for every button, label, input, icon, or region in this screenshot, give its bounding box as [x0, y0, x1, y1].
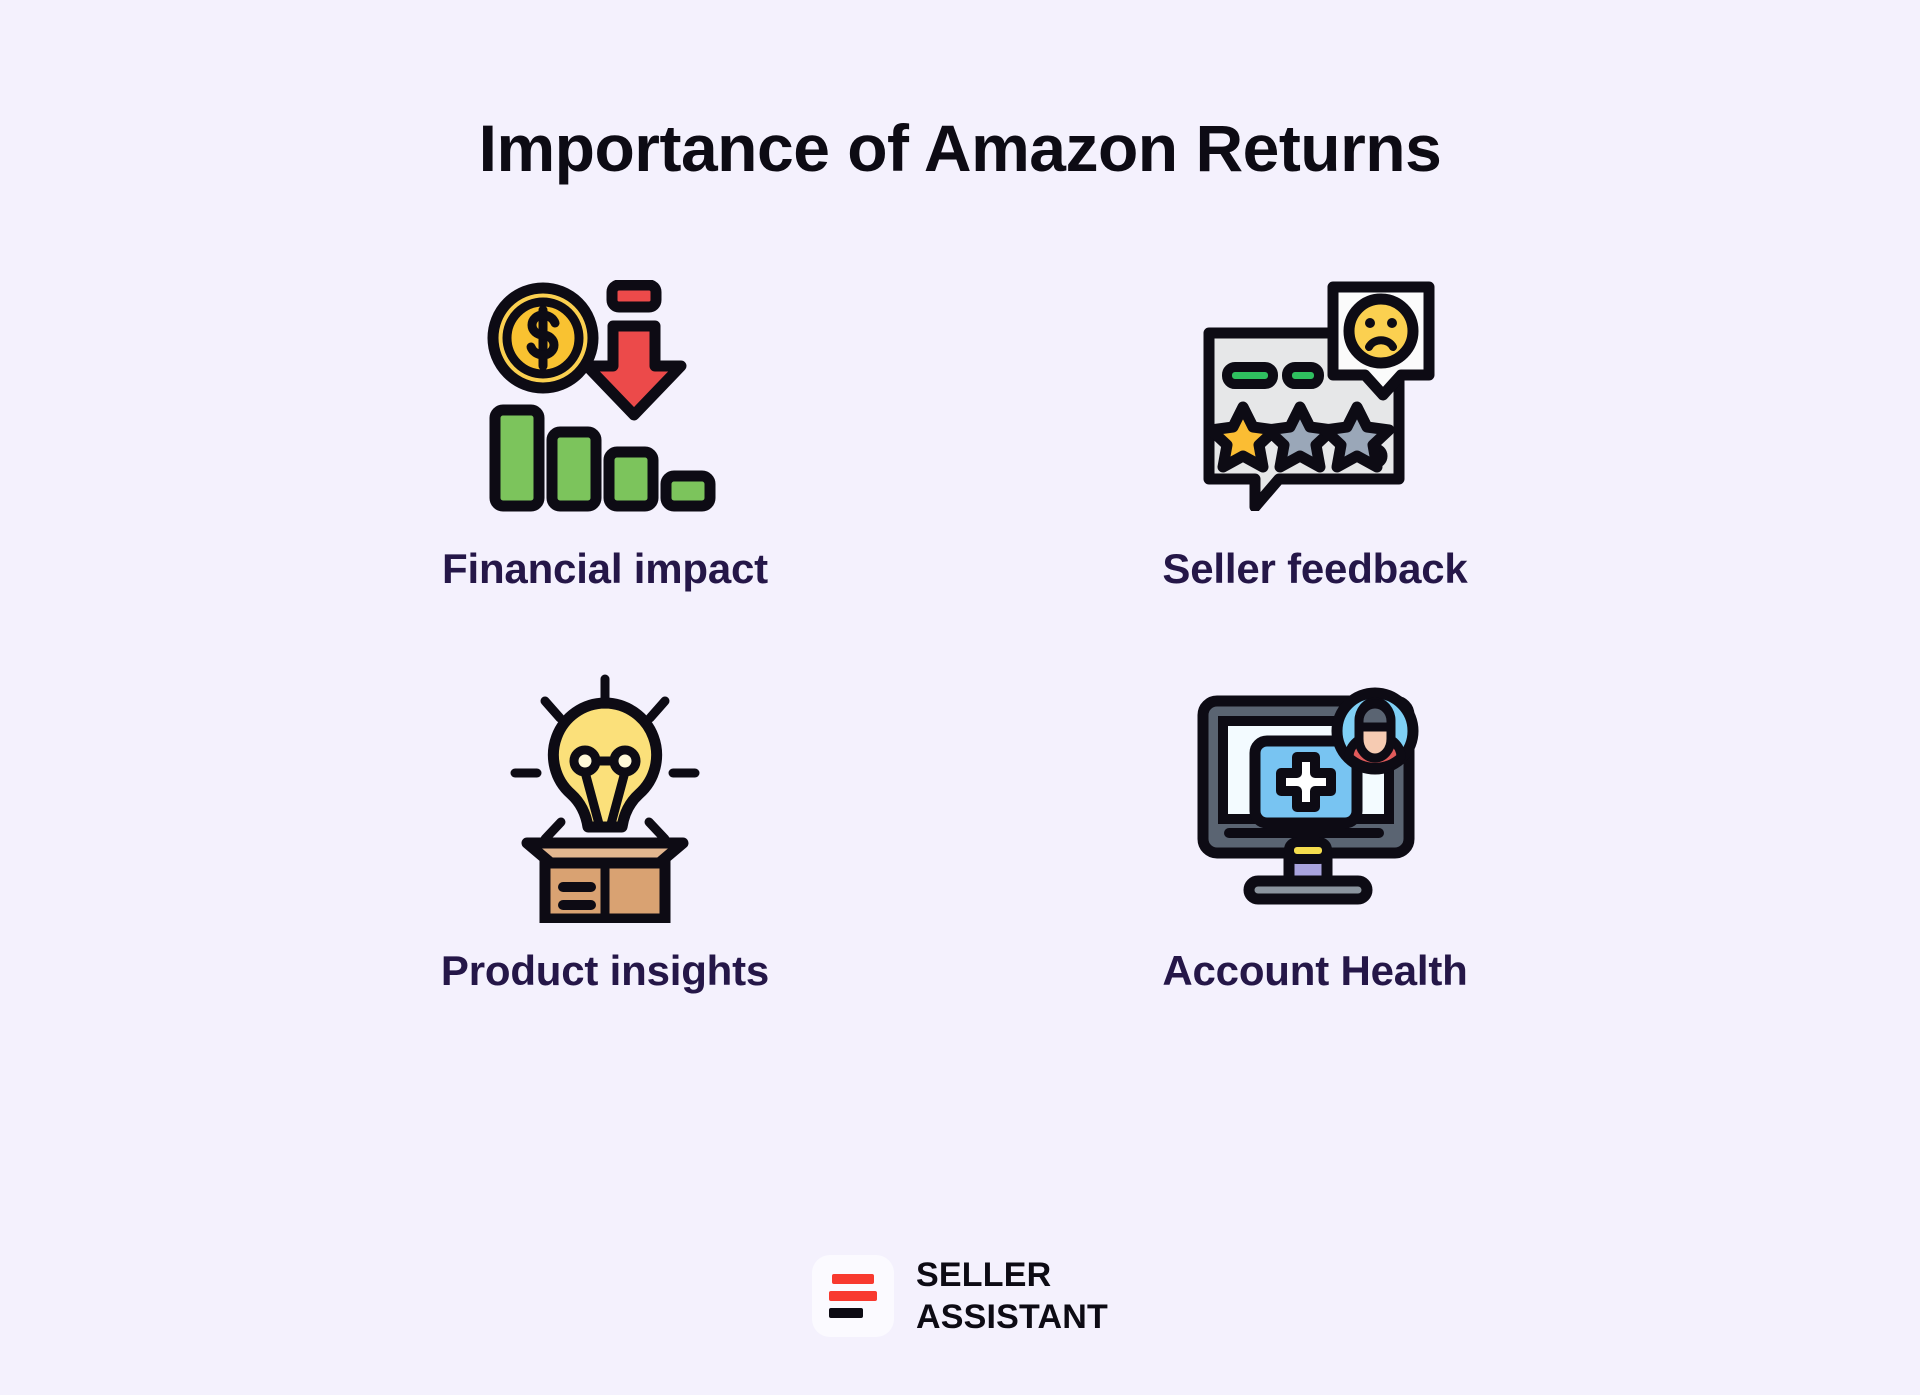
card-label-seller-feedback: Seller feedback: [1162, 545, 1467, 593]
red-down-arrow-icon: [587, 285, 681, 415]
user-avatar-badge-icon: [1337, 693, 1413, 769]
account-health-illustration: [1197, 687, 1433, 909]
lightbulb-icon: [553, 703, 656, 827]
gold-coin-dollar-icon: [493, 288, 593, 388]
brand-wordmark: SELLER ASSISTANT: [916, 1255, 1108, 1337]
card-product-insights: Product insights: [250, 667, 960, 995]
open-cardboard-box-icon: [527, 843, 683, 919]
brand-line-2: ASSISTANT: [916, 1297, 1108, 1337]
page-title: Importance of Amazon Returns: [479, 112, 1442, 185]
infographic-page: Importance of Amazon Returns: [0, 0, 1920, 1395]
cards-grid: Financial impact: [250, 265, 1670, 995]
card-seller-feedback: Seller feedback: [960, 265, 1670, 593]
card-label-account-health: Account Health: [1162, 947, 1467, 995]
product-insights-illustration: [505, 673, 705, 923]
financial-impact-illustration: [487, 280, 723, 512]
sad-face-bubble-icon: [1333, 287, 1429, 395]
three-stars-rating-icon: [1211, 407, 1389, 467]
descending-green-bar-chart-icon: [495, 410, 710, 506]
logo-bar-3: [829, 1308, 863, 1318]
card-label-financial-impact: Financial impact: [442, 545, 768, 593]
card-account-health: Account Health: [960, 667, 1670, 995]
seller-assistant-logo-icon: [812, 1255, 894, 1337]
account-health-icon: [1197, 667, 1433, 929]
card-financial-impact: Financial impact: [250, 265, 960, 593]
brand-line-1: SELLER: [916, 1255, 1108, 1295]
logo-bar-1: [832, 1274, 874, 1284]
card-label-product-insights: Product insights: [441, 947, 769, 995]
product-insights-icon: [505, 667, 705, 929]
seller-feedback-icon: [1195, 265, 1435, 527]
brand-logo: SELLER ASSISTANT: [0, 1255, 1920, 1337]
seller-feedback-illustration: [1195, 281, 1435, 511]
logo-bar-2: [829, 1291, 877, 1301]
financial-impact-icon: [487, 265, 723, 527]
